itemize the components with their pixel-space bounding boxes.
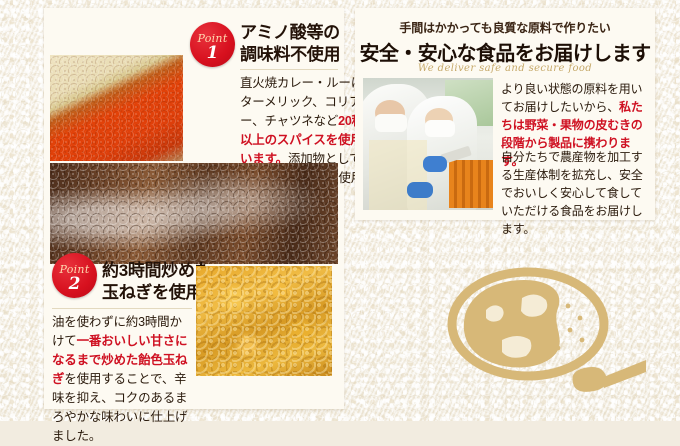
- worker-back-mask: [425, 120, 455, 137]
- point-1-text-segment-2: チャツネなど: [264, 114, 338, 128]
- spice-powders-photo: [50, 55, 183, 161]
- point-2-text-segment-3: を使用する: [64, 372, 126, 386]
- orange-crate: [449, 160, 493, 208]
- point-2-badge: Point 2: [52, 253, 97, 298]
- right-card-title: 安全・安心な食品をお届けします: [355, 37, 655, 66]
- curry-plate-and-spoon-illustration: [446, 262, 646, 412]
- left-content-card: Point 1 アミノ酸等の 調味料不使用 直火焼カレー・ルーには、ターメリック…: [44, 8, 344, 409]
- point-2-divider: [52, 308, 192, 309]
- right-content-card: 手間はかかっても良質な原料で作りたい 安全・安心な食品をお届けします We de…: [355, 8, 655, 220]
- curry-roux-cooking-photo: [50, 163, 338, 264]
- point-2-body-text: 油を使わずに約3時間かけて一番おいしい甘さになるまで炒めた飴色玉ねぎを使用するこ…: [52, 313, 194, 446]
- right-card-kicker: 手間はかかっても良質な原料で作りたい: [355, 19, 655, 36]
- blue-glove-upper: [423, 156, 447, 172]
- factory-workers-photo: [363, 78, 493, 210]
- point-1-badge: Point 1: [190, 22, 235, 67]
- right-card-script-subtitle: We deliver safe and secure food: [355, 63, 655, 74]
- right-paragraph-1-segment-1: お届けしたいから、: [513, 100, 619, 114]
- point-2-badge-word: Point: [52, 253, 97, 275]
- right-card-paragraph-2: 自分たちで農産物を加工する生産体制を拡充し、安全でおいしく安心して食していただけ…: [501, 148, 649, 238]
- point-1-badge-word: Point: [190, 22, 235, 44]
- worker-front-mask: [375, 114, 407, 132]
- point-1-divider: [240, 69, 338, 70]
- caramelized-onion-photo: [196, 266, 332, 376]
- point-2-text-segment-6: ました。: [52, 429, 101, 443]
- point-2-badge-number: 2: [52, 276, 97, 293]
- worker-apron: [369, 140, 427, 210]
- blue-glove-lower: [407, 182, 433, 198]
- point-1-badge-number: 1: [190, 45, 235, 62]
